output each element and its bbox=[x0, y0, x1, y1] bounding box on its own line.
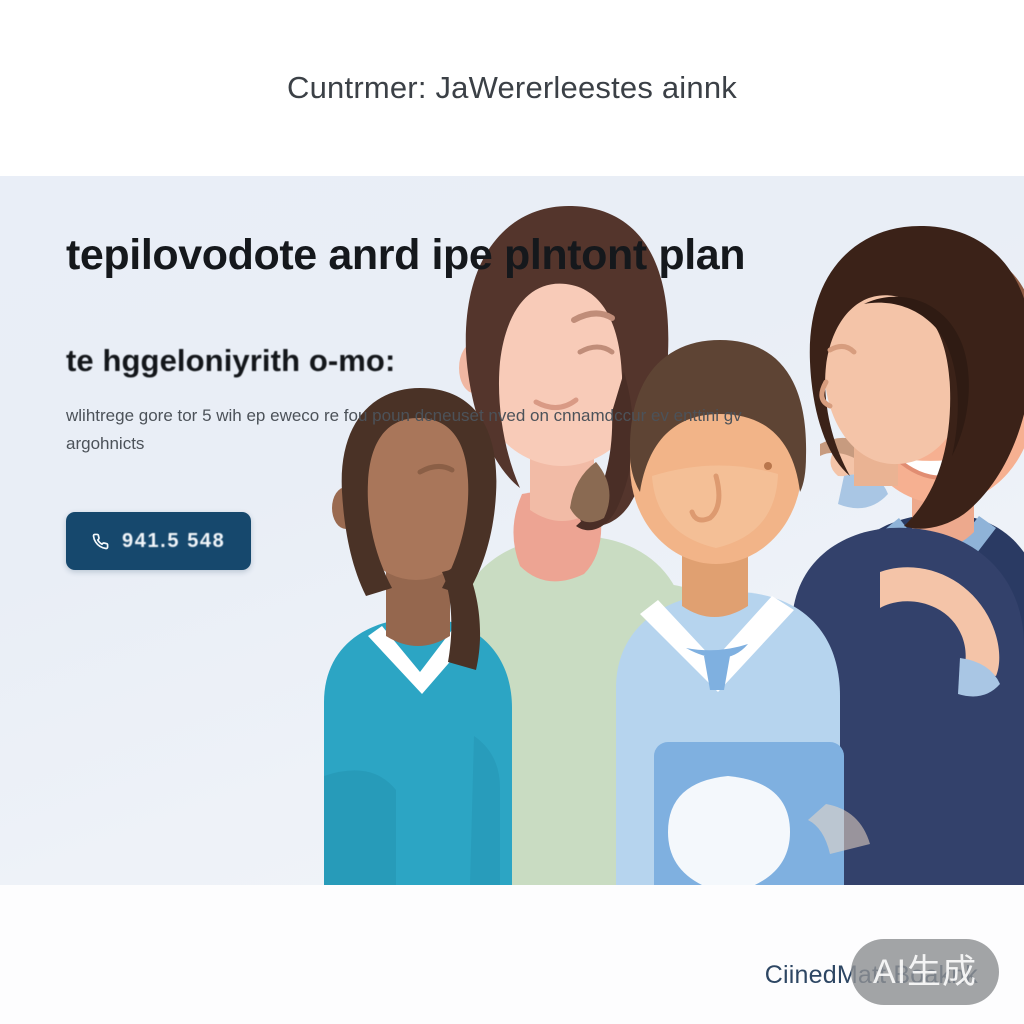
call-cta-button[interactable]: 941.5 548 bbox=[66, 512, 251, 570]
hero-copy: tepilovodote anrd ipe plntont plan te hg… bbox=[66, 231, 906, 457]
hero-body-text: wlihtrege gore tor 5 wih ep eweco re fou… bbox=[66, 402, 756, 457]
ai-generated-watermark: AI生成 bbox=[851, 939, 999, 1005]
page-header: Cuntrmer: JaWererleestes ainnk bbox=[0, 0, 1024, 176]
hero-subheading: te hggeloniyrith o-mo: bbox=[66, 343, 906, 379]
figure-child-teal-shirt bbox=[324, 388, 512, 885]
ai-watermark-label: AI生成 bbox=[873, 955, 977, 989]
page-title: Cuntrmer: JaWererleestes ainnk bbox=[287, 70, 737, 106]
tablet-clipboard bbox=[654, 742, 844, 885]
hero-section: tepilovodote anrd ipe plntont plan te hg… bbox=[0, 176, 1024, 885]
phone-icon bbox=[92, 533, 109, 550]
hero-heading: tepilovodote anrd ipe plntont plan bbox=[66, 231, 906, 279]
page-root: Cuntrmer: JaWererleestes ainnk bbox=[0, 0, 1024, 1024]
call-cta-label: 941.5 548 bbox=[122, 530, 225, 553]
